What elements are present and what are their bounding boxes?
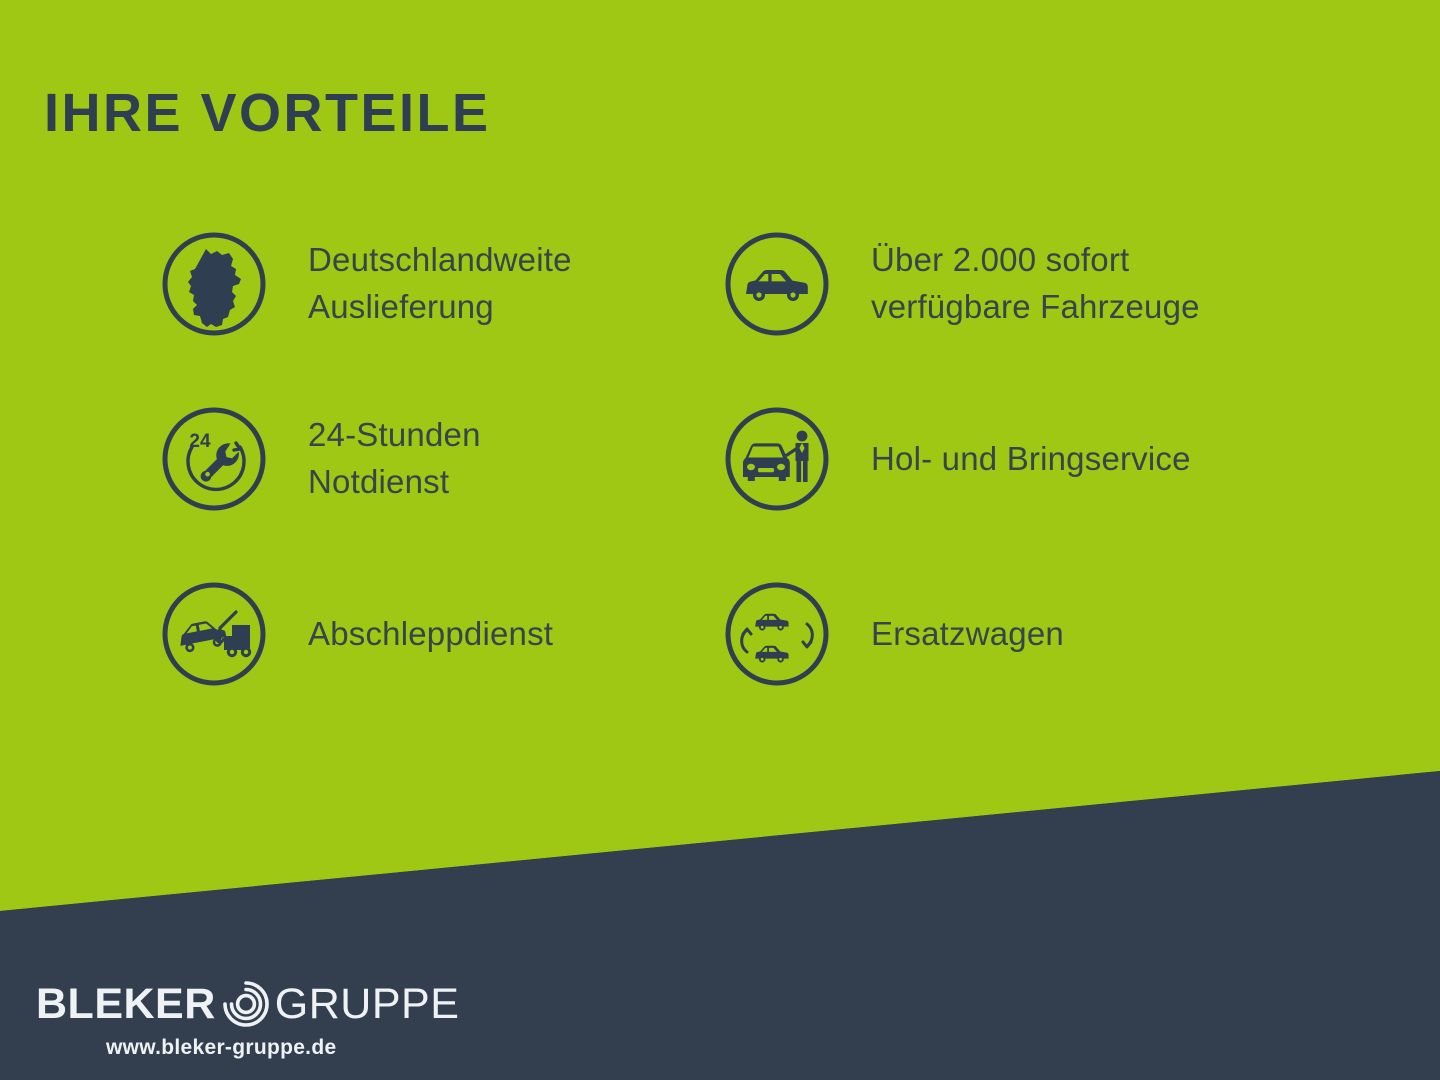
benefit-label: Ersatzwagen xyxy=(871,611,1064,658)
benefit-item-verfuegbare-fahrzeuge[interactable]: Über 2.000 sofort verfügbare Fahrzeuge xyxy=(723,218,1200,350)
germany-map-icon xyxy=(160,230,268,338)
benefit-item-24-stunden-notdienst[interactable]: 24 24-Stunden Notdienst xyxy=(160,393,481,525)
tow-truck-icon xyxy=(160,580,268,688)
benefit-item-hol-und-bringservice[interactable]: Hol- und Bringservice xyxy=(723,393,1191,525)
benefit-label: Deutschlandweite Auslieferung xyxy=(308,237,572,331)
car-side-icon xyxy=(723,230,831,338)
logo-url[interactable]: www.bleker-gruppe.de xyxy=(106,1036,459,1060)
benefit-label: 24-Stunden Notdienst xyxy=(308,412,481,506)
company-logo[interactable]: BLEKER GRUPPE www.bleker-gruppe.de xyxy=(36,978,459,1060)
svg-text:24: 24 xyxy=(189,431,211,452)
benefit-item-deutschlandweite-auslieferung[interactable]: Deutschlandweite Auslieferung xyxy=(160,218,572,350)
benefit-item-abschleppdienst[interactable]: Abschleppdienst xyxy=(160,568,553,700)
benefit-label: Abschleppdienst xyxy=(308,611,553,658)
car-with-person-icon xyxy=(723,405,831,513)
benefit-item-ersatzwagen[interactable]: Ersatzwagen xyxy=(723,568,1064,700)
spiral-icon xyxy=(218,976,274,1032)
benefit-label: Über 2.000 sofort verfügbare Fahrzeuge xyxy=(871,237,1200,331)
24-hour-wrench-icon: 24 xyxy=(160,405,268,513)
benefit-label: Hol- und Bringservice xyxy=(871,436,1191,483)
logo-wordmark-row: BLEKER GRUPPE xyxy=(36,978,459,1030)
slide-root: IHRE VORTEILE Deutschlandweite Ausliefer… xyxy=(0,0,1440,1080)
logo-primary-text: BLEKER xyxy=(36,983,216,1026)
two-cars-exchange-icon xyxy=(723,580,831,688)
logo-secondary-text: GRUPPE xyxy=(275,983,460,1026)
page-title: IHRE VORTEILE xyxy=(44,86,491,140)
